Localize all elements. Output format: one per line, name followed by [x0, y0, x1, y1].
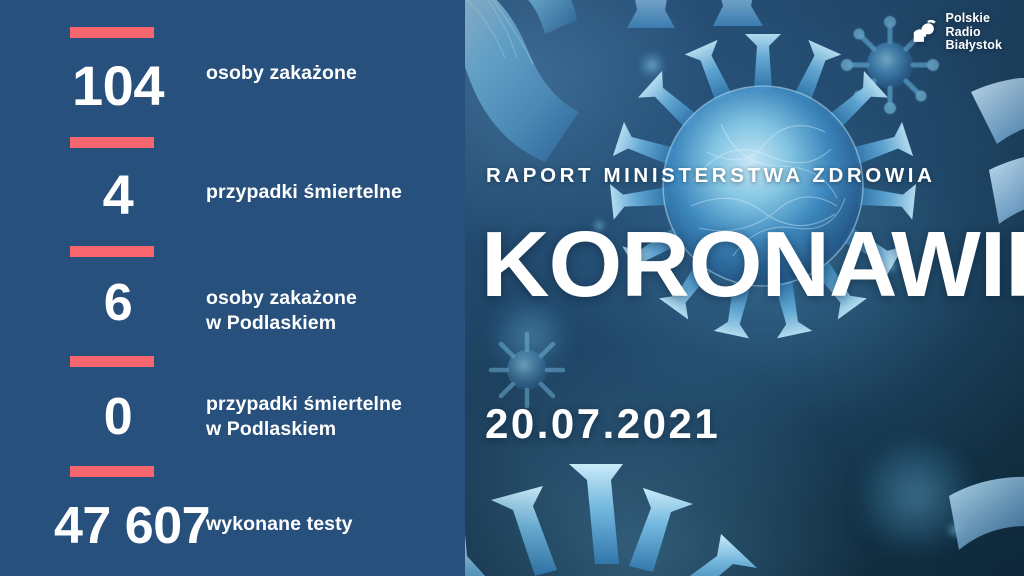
infographic-canvas: 104 osoby zakażone 4 przypadki śmierteln… [0, 0, 1024, 576]
stat-value: 0 [54, 391, 182, 443]
hero-image-panel: RAPORT MINISTERSTWA ZDROWIA KORONAWIRUS … [465, 0, 1024, 576]
stat-value: 104 [54, 58, 182, 114]
brand-line-1: Polskie [946, 12, 1002, 26]
stat-value: 47 607 [54, 500, 194, 552]
kicker-text: RAPORT MINISTERSTWA ZDROWIA [486, 164, 935, 188]
statistics-panel: 104 osoby zakażone 4 przypadki śmierteln… [0, 0, 465, 576]
virus-spike-cluster-icon [939, 470, 1024, 560]
accent-rule [70, 137, 154, 148]
virus-spike-cluster-icon [617, 0, 787, 76]
stat-label: przypadki śmiertelne [206, 180, 402, 205]
stat-label: osoby zakażone w Podlaskiem [206, 286, 357, 336]
brand-line-3: Białystok [946, 39, 1002, 53]
page-title: KORONAWIRUS [481, 222, 1024, 308]
accent-rule [70, 466, 154, 477]
accent-rule [70, 27, 154, 38]
virus-particle-bottom-icon [465, 446, 807, 576]
stat-value: 6 [54, 277, 182, 329]
accent-rule [70, 246, 154, 257]
brand-logo: Polskie Radio Białystok [910, 12, 1002, 53]
virus-spike-cluster-icon [935, 78, 1024, 228]
brand-logo-text: Polskie Radio Białystok [946, 12, 1002, 53]
report-date: 20.07.2021 [485, 400, 720, 448]
stat-label: wykonane testy [206, 512, 353, 537]
microphone-icon [910, 17, 940, 47]
accent-rule [70, 356, 154, 367]
stat-value: 4 [54, 167, 182, 223]
brand-line-2: Radio [946, 26, 1002, 40]
stat-label: osoby zakażone [206, 61, 357, 86]
stat-label: przypadki śmiertelne w Podlaskiem [206, 392, 402, 442]
